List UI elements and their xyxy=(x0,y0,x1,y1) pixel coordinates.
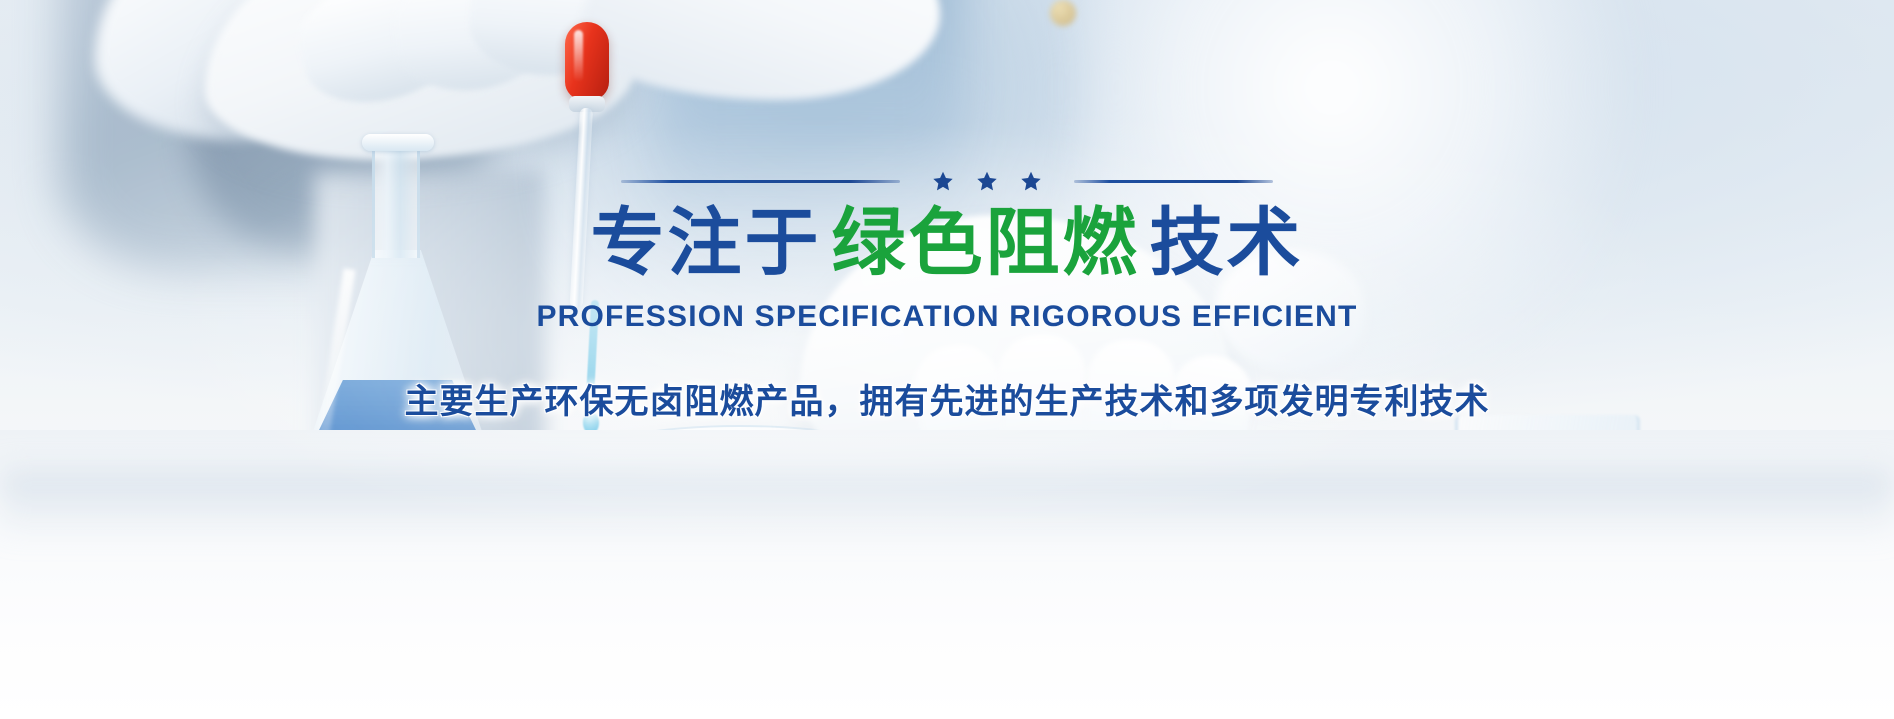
headline-part-3: 技术 xyxy=(1150,201,1304,284)
headline-part-2: 绿色阻燃 xyxy=(832,201,1140,284)
star-icon xyxy=(1020,171,1042,192)
star-icon xyxy=(976,171,998,192)
rule-left xyxy=(621,180,900,183)
banner-headline: 专注于绿色阻燃技术 xyxy=(591,204,1304,282)
english-tagline: PROFESSION SPECIFICATION RIGOROUS EFFICI… xyxy=(536,300,1357,334)
headline-part-1: 专注于 xyxy=(591,201,822,284)
chinese-sub-tagline: 主要生产环保无卤阻燃产品，拥有先进的生产技术和多项发明专利技术 xyxy=(405,374,1490,423)
star-group xyxy=(932,171,1042,192)
hero-banner: 专注于绿色阻燃技术 PROFESSION SPECIFICATION RIGOR… xyxy=(0,0,1894,719)
rule-right xyxy=(1074,180,1273,183)
banner-content: 专注于绿色阻燃技术 PROFESSION SPECIFICATION RIGOR… xyxy=(0,0,1894,719)
decorative-rule-with-stars xyxy=(621,168,1273,194)
star-icon xyxy=(932,171,954,192)
